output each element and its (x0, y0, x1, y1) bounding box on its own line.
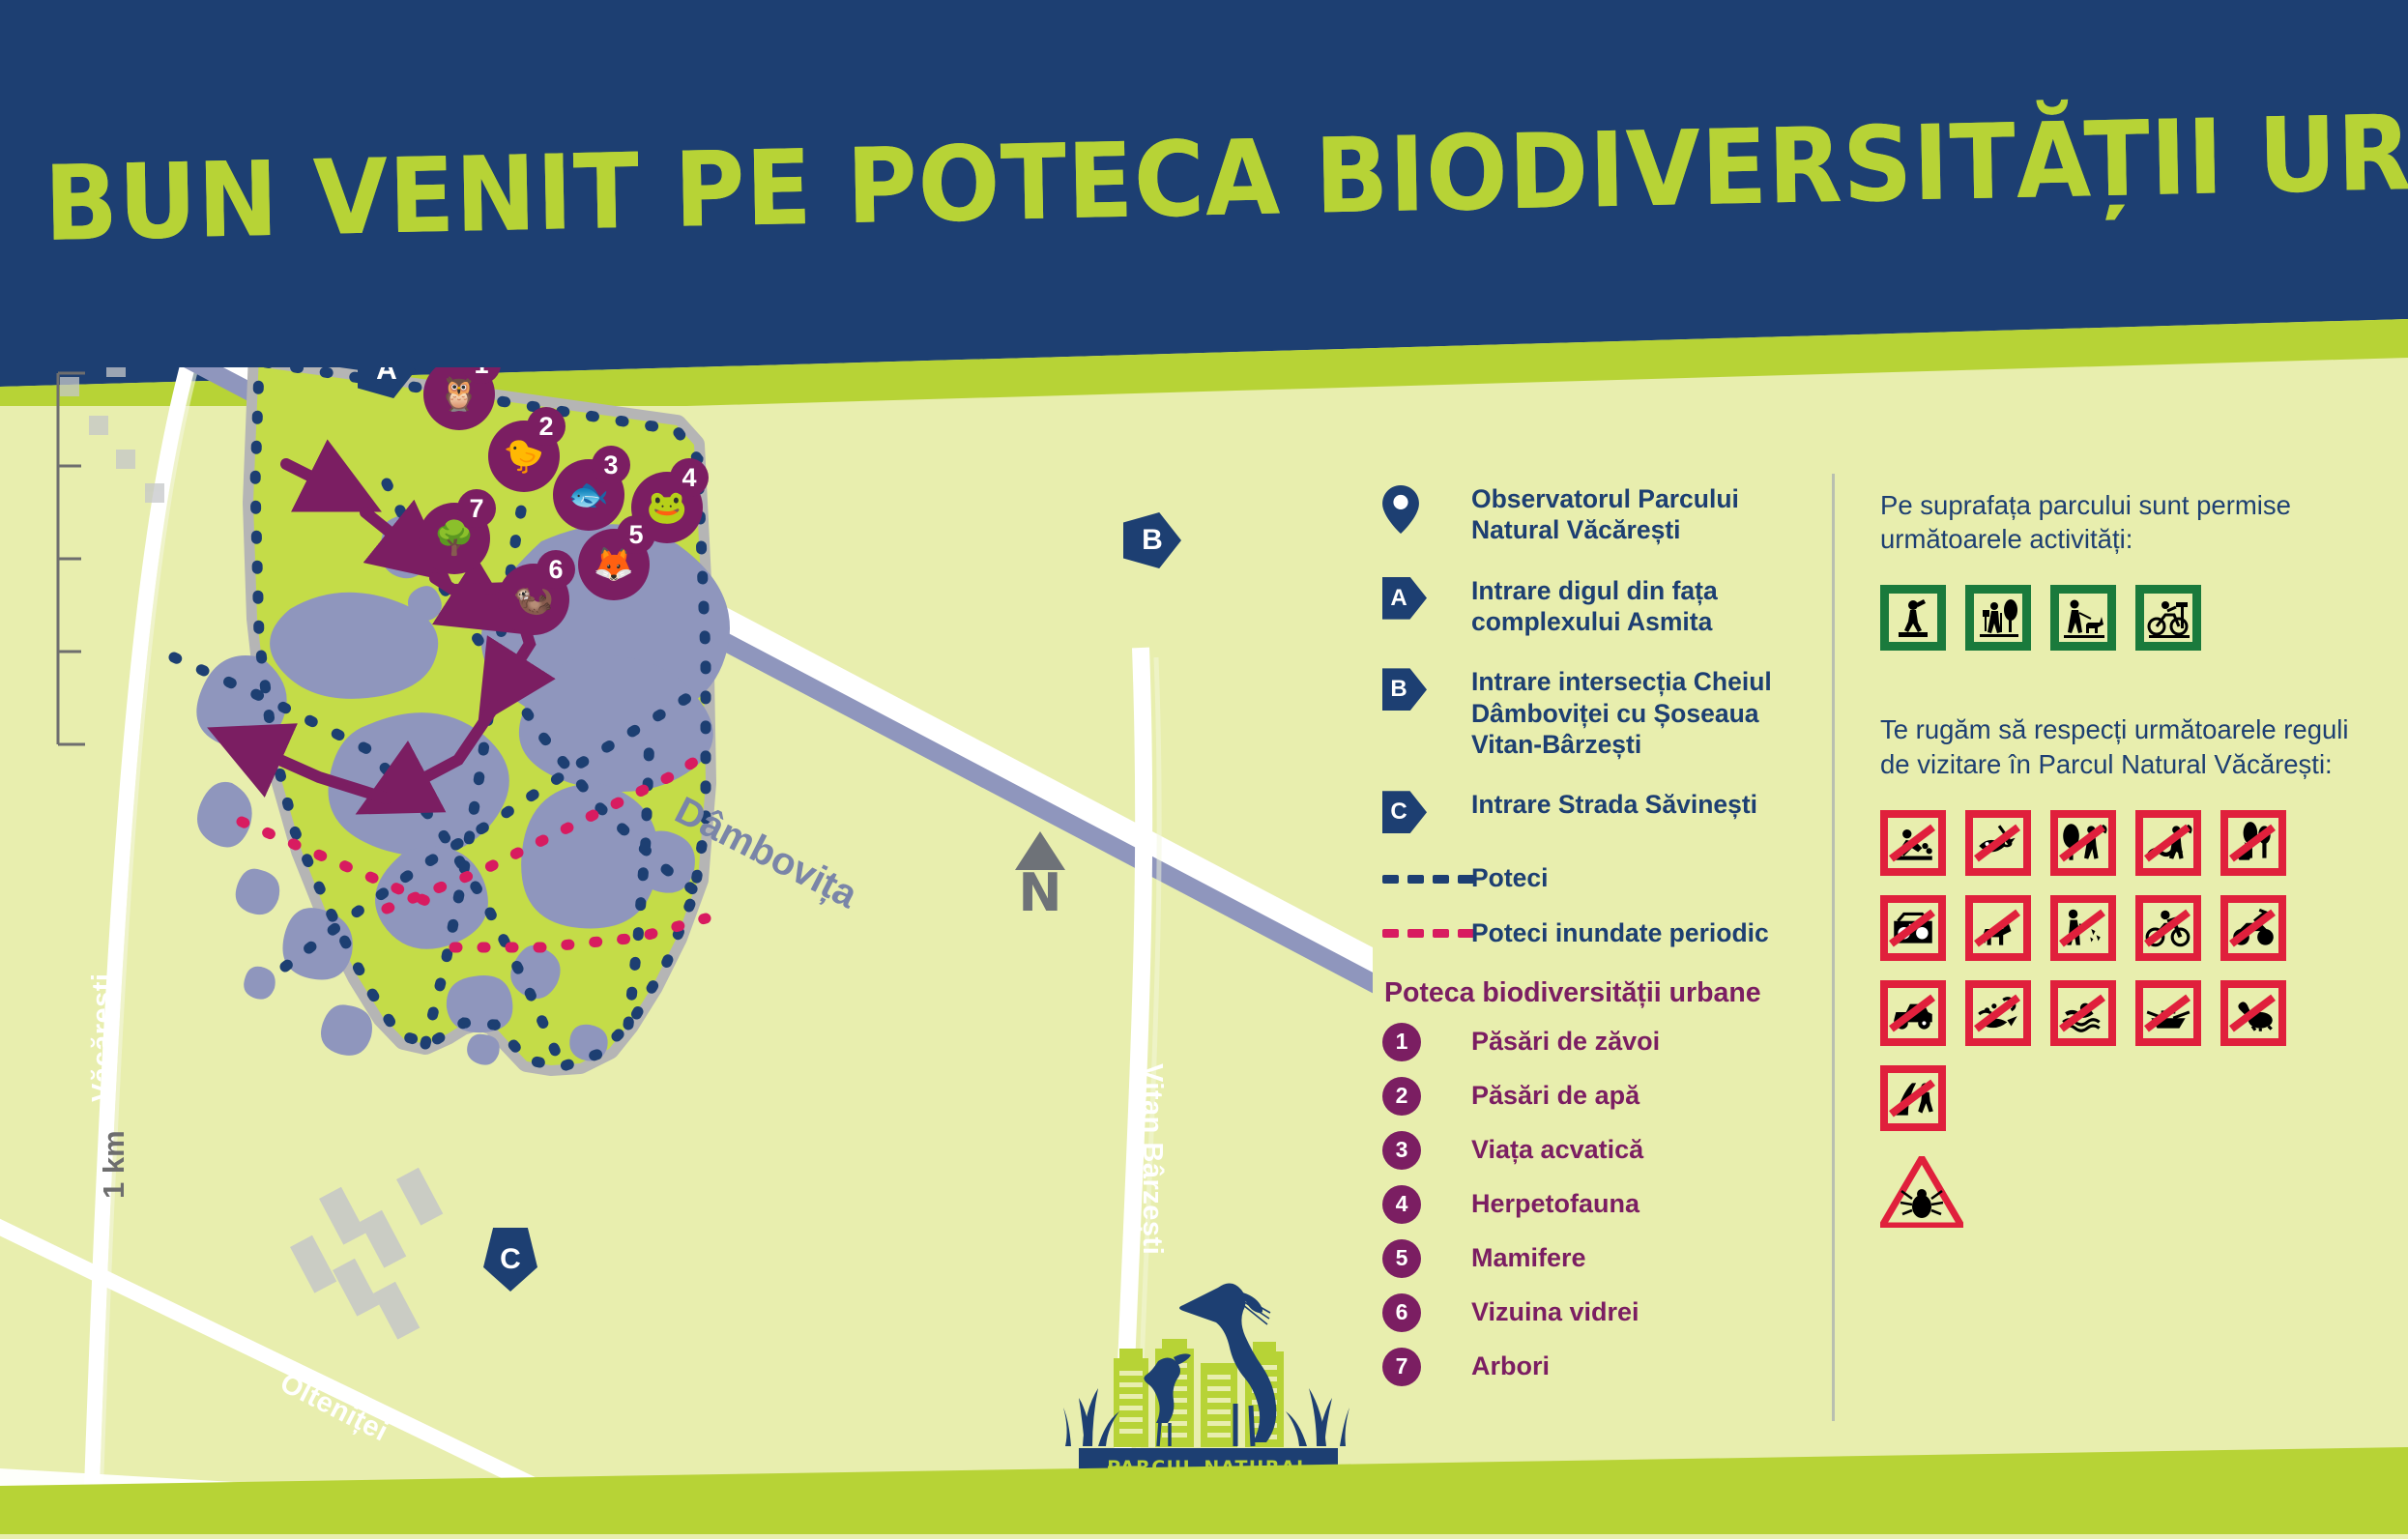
trail-point-label: Vizuina vidrei (1471, 1297, 1639, 1327)
tick-warning-icon (1880, 1156, 1963, 1228)
no-feeding-wildlife-icon (1965, 980, 2031, 1046)
dashed-line-pink-icon (1382, 917, 1471, 948)
legend-item-label: Poteci inundate periodic (1471, 917, 1769, 948)
binoculars-birdwatching-icon (1880, 585, 1946, 651)
trail-point-1[interactable]: 1 Păsări de zăvoi (1382, 1023, 1798, 1061)
scale-bar (58, 373, 85, 744)
trail-point-number: 6 (1382, 1293, 1421, 1332)
page-title: BUN VENIT PE POTECA BIODIVERSITĂȚII URBA… (44, 86, 2408, 264)
waterfowl-icon: 🐤 (504, 440, 544, 473)
scale-label: 1 km (97, 1130, 131, 1199)
bird-icon: 🦉 (439, 378, 479, 411)
no-fishing-icon (1965, 810, 2031, 876)
no-boating-icon (2135, 980, 2201, 1046)
map-marker-6[interactable]: 6 🦦 (498, 564, 569, 635)
map-marker-3-number: 3 (592, 446, 630, 484)
legend-item-label: Observatorul Parcului Natural Văcărești (1471, 483, 1798, 546)
badge-a-letter: A (1382, 577, 1427, 620)
trail-point-label: Mamifere (1471, 1243, 1586, 1273)
north-arrow: N (1015, 831, 1065, 917)
frog-icon: 🐸 (647, 491, 687, 524)
badge-b-icon: B (1382, 666, 1471, 711)
legend-item-label: Poteci (1471, 862, 1549, 893)
header-banner: BUN VENIT PE POTECA BIODIVERSITĂȚII URBA… (0, 0, 2408, 387)
badge-c-icon: C (1382, 789, 1471, 833)
legend-item-entrance-b[interactable]: B Intrare intersecția Cheiul Dâmboviței … (1382, 666, 1798, 760)
map-marker-2[interactable]: 2 🐤 (488, 421, 560, 492)
no-littering-icon (2050, 895, 2116, 961)
trail-point-3[interactable]: 3 Viața acvatică (1382, 1131, 1798, 1170)
legend-item-paths[interactable]: Poteci (1382, 862, 1798, 893)
no-picking-flowers-icon (1880, 810, 1946, 876)
no-atv-icon (2220, 895, 2286, 961)
forbidden-rules-grid (1880, 810, 2364, 1131)
trail-point-label: Arbori (1471, 1351, 1550, 1381)
city-blocks (290, 1168, 443, 1340)
dog-on-leash-icon (2050, 585, 2116, 651)
badge-b-letter: B (1382, 668, 1427, 711)
no-disturbing-animals-icon (2220, 980, 2286, 1046)
trail-point-number: 1 (1382, 1023, 1421, 1061)
legend-item-flooded-paths[interactable]: Poteci inundate periodic (1382, 917, 1798, 948)
otter-icon: 🦦 (513, 583, 554, 616)
legend-item-entrance-a[interactable]: A Intrare digul din fața complexului Asm… (1382, 575, 1798, 638)
fish-icon: 🐟 (568, 479, 609, 511)
trail-point-4[interactable]: 4 Herpetofauna (1382, 1185, 1798, 1224)
map-marker-7-number: 7 (457, 489, 496, 528)
legend-divider (1832, 474, 1835, 1421)
forbidden-rules-title: Te rugăm să respecți următoarele reguli … (1880, 712, 2364, 780)
map-marker-3[interactable]: 3 🐟 (553, 459, 624, 531)
street-label-vitan: Vitan Bârzești (1136, 1063, 1168, 1255)
trail-point-2[interactable]: 2 Păsări de apă (1382, 1077, 1798, 1116)
dashed-line-navy-icon (1382, 862, 1471, 893)
map-marker-5-number: 5 (617, 515, 655, 554)
allowed-activities-title: Pe suprafața parcului sunt permise următ… (1880, 488, 2364, 556)
no-cutting-trees-icon (2050, 810, 2116, 876)
map-marker-7[interactable]: 7 🌳 (419, 503, 490, 574)
trail-point-label: Viața acvatică (1471, 1135, 1643, 1165)
rules-panel: Pe suprafața parcului sunt permise următ… (1880, 488, 2364, 1228)
trail-point-label: Păsări de apă (1471, 1081, 1639, 1111)
no-climbing-banks-icon (1880, 1065, 1946, 1131)
allowed-activities-grid (1880, 585, 2364, 651)
fox-icon: 🦊 (594, 548, 634, 581)
legend-item-label: Intrare digul din fața complexului Asmit… (1471, 575, 1798, 638)
trail-point-5[interactable]: 5 Mamifere (1382, 1239, 1798, 1278)
no-loud-music-icon (1880, 895, 1946, 961)
cycling-icon (2135, 585, 2201, 651)
no-dogs-off-leash-icon (1965, 895, 2031, 961)
legend-item-label: Intrare Strada Săvinești (1471, 789, 1757, 820)
badge-c-letter: C (1382, 791, 1427, 833)
trail-point-7[interactable]: 7 Arbori (1382, 1348, 1798, 1386)
map-marker-2-number: 2 (527, 407, 566, 446)
no-campfire-icon (2220, 810, 2286, 876)
legend-item-entrance-c[interactable]: C Intrare Strada Săvinești (1382, 789, 1798, 833)
no-killing-snakes-icon (2135, 810, 2201, 876)
north-label: N (1015, 870, 1065, 917)
no-motorcycles-icon (2135, 895, 2201, 961)
legend-item-label: Intrare intersecția Cheiul Dâmboviței cu… (1471, 666, 1798, 760)
trail-point-number: 4 (1382, 1185, 1421, 1224)
trail-list-title: Poteca biodiversității urbane (1384, 977, 1798, 1009)
trail-point-number: 5 (1382, 1239, 1421, 1278)
trail-point-number: 2 (1382, 1077, 1421, 1116)
badge-a-icon: A (1382, 575, 1471, 620)
trail-point-label: Herpetofauna (1471, 1189, 1639, 1219)
map-legend: Observatorul Parcului Natural Văcărești … (1382, 483, 1798, 1402)
street-label-vacaresti: Văcărești (87, 973, 119, 1103)
trail-point-number: 3 (1382, 1131, 1421, 1170)
map-marker-5[interactable]: 5 🦊 (578, 529, 650, 600)
trail-point-label: Păsări de zăvoi (1471, 1027, 1660, 1057)
trail-point-6[interactable]: 6 Vizuina vidrei (1382, 1293, 1798, 1332)
hiking-nature-icon (1965, 585, 2031, 651)
no-cars-icon (1880, 980, 1946, 1046)
legend-item-observatory[interactable]: Observatorul Parcului Natural Văcărești (1382, 483, 1798, 546)
map-marker-6-number: 6 (537, 550, 575, 589)
no-swimming-icon (2050, 980, 2116, 1046)
trail-point-number: 7 (1382, 1348, 1421, 1386)
map-marker-4-number: 4 (670, 458, 709, 497)
map-pin-icon (1382, 483, 1471, 534)
tree-icon: 🌳 (434, 522, 475, 555)
